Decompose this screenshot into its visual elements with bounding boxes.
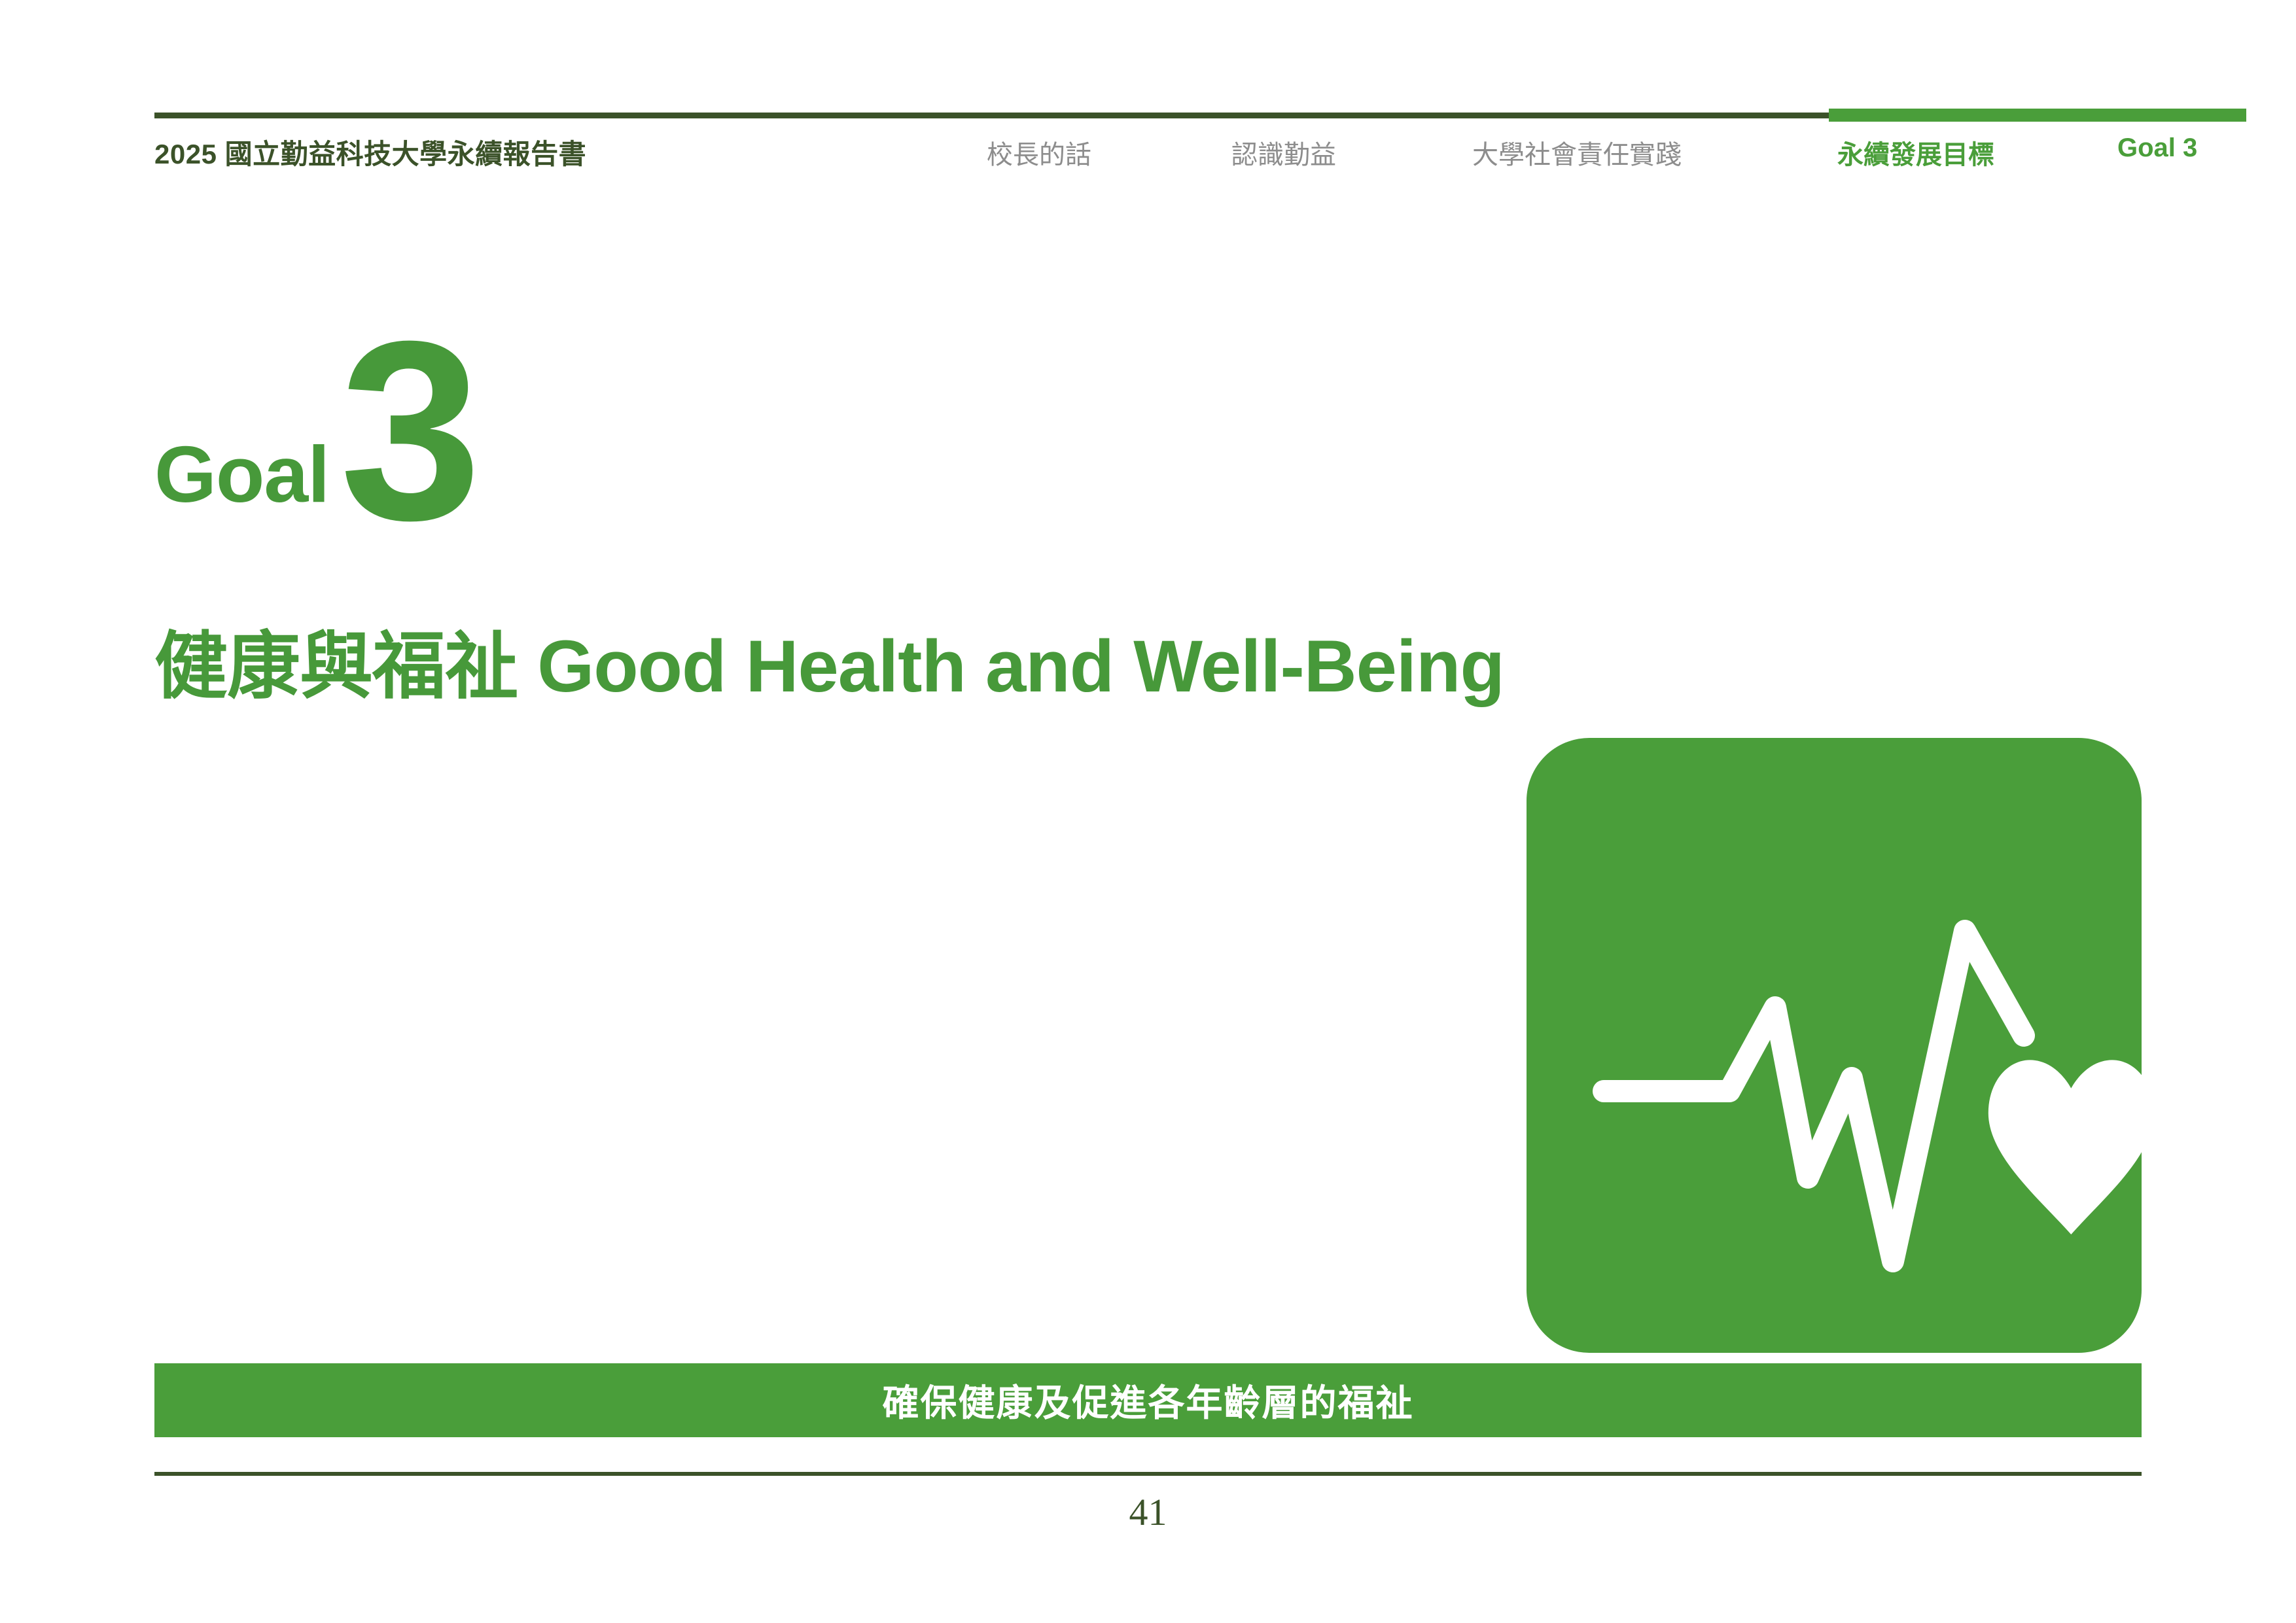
goal-statement-text: 確保健康及促進各年齡層的福祉	[883, 1374, 1414, 1427]
goal-number-value: 3	[340, 331, 478, 530]
page-header: 2025 國立勤益科技大學永續報告書 校長的話 認識勤益 大學社會責任實踐 永續…	[154, 105, 2246, 183]
goal-statement-banner: 確保健康及促進各年齡層的福祉	[154, 1363, 2142, 1437]
nav-item-usr-practice[interactable]: 大學社會責任實踐	[1472, 133, 1682, 171]
sdg3-health-pulse-heart-icon	[1527, 738, 2142, 1353]
page-title: 健康與福祉 Good Health and Well-Being	[154, 625, 1504, 709]
nav-item-presidents-message[interactable]: 校長的話	[987, 133, 1091, 171]
active-tab-indicator-bar	[1829, 109, 2246, 122]
footer-divider-rule	[154, 1472, 2142, 1476]
goal-number-block: Goal 3	[154, 281, 478, 530]
goal-word-label: Goal	[154, 434, 329, 514]
page-number: 41	[154, 1490, 2142, 1534]
report-title: 2025 國立勤益科技大學永續報告書	[154, 132, 586, 172]
nav-item-sdgs[interactable]: 永續發展目標	[1837, 133, 1994, 171]
nav-item-about-ncut[interactable]: 認識勤益	[1231, 133, 1336, 171]
nav-item-goal-3[interactable]: Goal 3	[2117, 133, 2197, 163]
header-divider-rule	[154, 113, 1829, 118]
report-page: 2025 國立勤益科技大學永續報告書 校長的話 認識勤益 大學社會責任實踐 永續…	[0, 0, 2296, 1623]
